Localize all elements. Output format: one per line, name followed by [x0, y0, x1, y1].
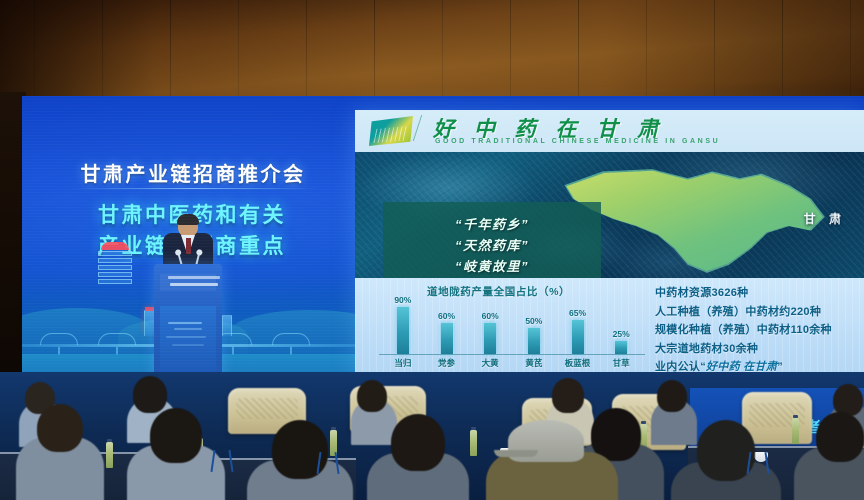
audience-head	[37, 404, 83, 452]
chart-category-label: 黄芪	[514, 357, 554, 369]
logo-divider	[413, 115, 422, 141]
bottle-cap	[471, 427, 476, 430]
fact-line: 人工种植（养殖）中药材约220种	[655, 303, 864, 322]
slide-body: 道地陇药产量全国占比（%） 90%60%60%50%65%25% 当归党参大黄黄…	[355, 278, 864, 380]
audience-head	[150, 408, 202, 463]
chart-category-label: 甘草	[601, 357, 641, 369]
slide-header: 好 中 药 在 甘 肃 GOOD TRADITIONAL CHINESE MED…	[355, 110, 864, 152]
audience-head	[657, 380, 687, 412]
chart-bar-value: 60%	[473, 311, 507, 321]
slogan-line-2: “天然药库”	[455, 235, 529, 256]
slogan-box: “千年药乡” “天然药库” “岐黄故里” 重点中药材品种占全国76%	[383, 202, 601, 278]
audience-cap	[508, 420, 584, 462]
bottle-cap	[793, 415, 798, 418]
water-bottle	[470, 430, 477, 456]
facts-list: 中药材资源3626种人工种植（养殖）中药材约220种规模化种植（养殖）中药材11…	[655, 284, 864, 377]
audience-head	[357, 380, 387, 412]
conference-hall-scene: 甘肃产业链招商推介会 甘肃中医药和有关 产业链及招商重点	[0, 0, 864, 500]
gansu-map-region: 甘 肃 “千年药乡” “天然药库” “岐黄故里” 重点中药材品种占全国76%	[355, 152, 864, 278]
chart-bar	[572, 320, 584, 354]
chart-bar	[615, 341, 627, 354]
chart-category-label: 板蓝根	[558, 357, 598, 369]
audience-head	[816, 412, 864, 462]
fact-line: 大宗道地药材30余种	[655, 340, 864, 359]
chart-x-tick-labels: 当归党参大黄黄芪板蓝根甘草	[381, 357, 643, 373]
audience-head	[591, 408, 641, 461]
chart-bar-value: 25%	[604, 329, 638, 339]
slogan-line-1: “千年药乡”	[455, 214, 529, 235]
chart-bar-value: 65%	[561, 308, 595, 318]
bottle-cap	[331, 427, 336, 430]
chart-bars: 90%60%60%50%65%25%	[381, 296, 643, 354]
bottle-cap	[107, 439, 112, 442]
chart-category-label: 当归	[383, 357, 423, 369]
water-bottle	[106, 442, 113, 468]
fact-line: 中药材资源3626种	[655, 284, 864, 303]
chart-category-label: 党参	[427, 357, 467, 369]
chart-bar-value: 50%	[517, 316, 551, 326]
audience-head	[552, 378, 584, 413]
audience-head	[391, 414, 445, 471]
chart-bar	[528, 328, 540, 354]
slide-header-subtitle: GOOD TRADITIONAL CHINESE MEDICINE IN GAN…	[435, 138, 720, 145]
cap-brim	[494, 450, 538, 457]
chart-category-label: 大黄	[470, 357, 510, 369]
chart-bar	[397, 307, 409, 354]
map-label: 甘 肃	[804, 210, 846, 227]
audience-head	[133, 376, 167, 413]
fact-line: 规模化种植（养殖）中药材110余种	[655, 321, 864, 340]
chart-bar-value: 90%	[386, 295, 420, 305]
audience-chair	[742, 392, 812, 444]
chart-bar	[484, 323, 496, 354]
chart-bar	[441, 323, 453, 354]
presentation-slide: 好 中 药 在 甘 肃 GOOD TRADITIONAL CHINESE MED…	[355, 110, 864, 380]
production-share-chart: 道地陇药产量全国占比（%） 90%60%60%50%65%25% 当归党参大黄黄…	[373, 282, 649, 376]
audience-head	[272, 420, 328, 479]
bottle-cap	[641, 421, 646, 424]
water-bottle	[792, 418, 799, 444]
chart-x-axis	[379, 354, 645, 355]
slogan-line-3: “岐黄故里”	[455, 256, 529, 277]
chart-bar-value: 60%	[430, 311, 464, 321]
